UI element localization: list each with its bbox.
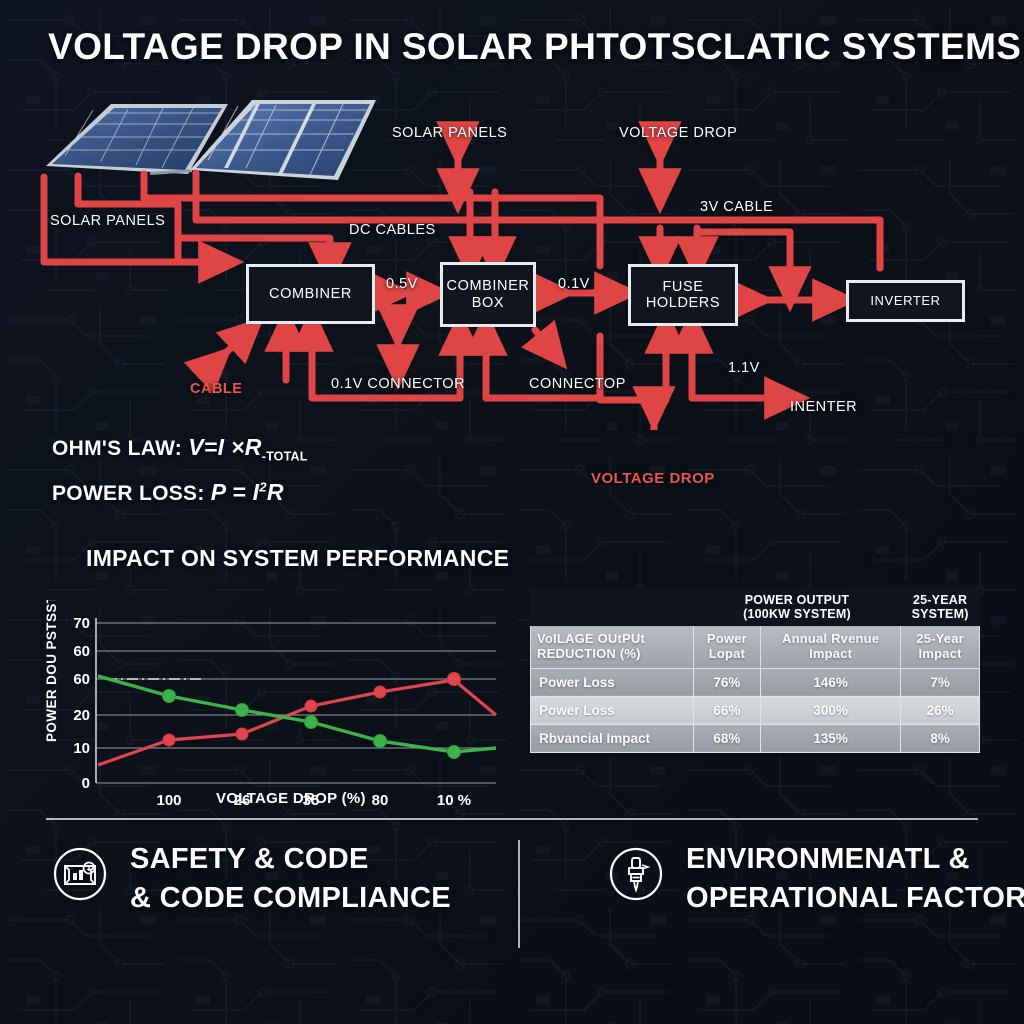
label-dc-cables: DC CABLES xyxy=(349,222,436,238)
node-combiner-box[interactable]: COMBINERBOX xyxy=(440,262,536,327)
chart-ytick-60b: 60 xyxy=(73,671,90,688)
row-25-year: 8% xyxy=(901,724,980,752)
ohms-law-times: × xyxy=(231,434,245,460)
row-25-year: 7% xyxy=(901,668,980,696)
table-top-25-year: 25-YEARSYSTEM) xyxy=(901,589,980,626)
footer-vertical-divider xyxy=(518,840,520,948)
footer-item-safety-code: SAFETY & CODE& CODE COMPLIANCE xyxy=(52,840,507,917)
power-loss-exponent: 2 xyxy=(259,479,267,494)
wiring-arrows xyxy=(0,80,1024,430)
row-label: Power Loss xyxy=(531,696,694,724)
table-row: Rbvancial Impact 68% 135% 8% xyxy=(531,724,980,752)
row-power-lopat: 68% xyxy=(693,724,760,752)
ohms-law-eq: = xyxy=(204,434,218,460)
chart-ytick-10: 10 xyxy=(73,740,90,757)
row-power-lopat: 76% xyxy=(693,668,760,696)
chart-y-axis-label: POWER DOU PSTSST(:) xyxy=(44,600,59,742)
col-25-year-impact: 25-YearImpact xyxy=(901,626,980,669)
node-combiner[interactable]: COMBINER xyxy=(246,264,375,324)
table-header-row: VoILAGE OUtPUtREDUCTION (%) PowerLopat A… xyxy=(531,626,980,669)
page-title: VOLTAGE DROP IN SOLAR PHTOTSCLATIC SYSTE… xyxy=(48,26,978,68)
table-top-header-row: POWER OUTPUT(100KW SYSTEM) 25-YEARSYSTEM… xyxy=(531,589,980,626)
node-combiner-box-label: COMBINERBOX xyxy=(447,278,530,310)
chart-x-axis-label: VOLTAGE DROP (%) xyxy=(216,790,366,807)
col-power-lopat: PowerLopat xyxy=(693,626,760,669)
power-loss-expr: P = I xyxy=(211,479,260,505)
label-drop-1-1v: 1.1V xyxy=(728,360,760,376)
node-inverter-label: INVERTER xyxy=(870,294,940,309)
chart-title: IMPACT ON SYSTEM PERFORMANCE xyxy=(86,545,509,572)
formula-ohms-law: OHM'S LAW: V=I ×R-TOTAL xyxy=(52,434,308,464)
row-label: Rbvancial Impact xyxy=(531,724,694,752)
impact-table: POWER OUTPUT(100KW SYSTEM) 25-YEARSYSTEM… xyxy=(530,588,980,753)
formula-list: OHM'S LAW: V=I ×R-TOTAL POWER LOSS: P = … xyxy=(52,434,308,521)
chart-xtick-4: 10 % xyxy=(437,792,471,805)
row-annual-revenue: 300% xyxy=(761,696,901,724)
footer-divider xyxy=(46,818,978,820)
label-drop-0-5v: 0.5V xyxy=(386,276,418,292)
node-inverter[interactable]: INVERTER xyxy=(846,280,965,322)
table-top-blank xyxy=(531,589,694,626)
ohms-law-i: I xyxy=(218,434,225,460)
label-cable: CABLE xyxy=(190,381,242,397)
row-annual-revenue: 146% xyxy=(761,668,901,696)
label-inenter: INENTER xyxy=(790,399,857,415)
row-annual-revenue: 135% xyxy=(761,724,901,752)
chart-series-power-loss-points xyxy=(163,673,461,747)
chart-ytick-70: 70 xyxy=(73,615,90,632)
row-25-year: 26% xyxy=(901,696,980,724)
formula-power-loss: POWER LOSS: P = I2R xyxy=(52,479,308,506)
power-loss-tail: R xyxy=(267,479,284,505)
label-3v-cable: 3V CABLE xyxy=(700,199,773,215)
ohms-law-subscript: -TOTAL xyxy=(262,450,308,464)
label-drop-0-1v: 0.1V xyxy=(558,276,590,292)
system-diagram: COMBINER COMBINERBOX FUSEHOLDERS INVERTE… xyxy=(0,80,1024,430)
ohms-law-r: R xyxy=(245,434,262,460)
safety-sign-icon xyxy=(52,846,108,902)
node-fuse-holders[interactable]: FUSEHOLDERS xyxy=(628,264,738,326)
col-voltage-output-reduction: VoILAGE OUtPUtREDUCTION (%) xyxy=(531,626,694,669)
node-combiner-label: COMBINER xyxy=(269,286,352,302)
chart-xtick-3: 80 xyxy=(372,792,389,805)
footer-safety-text: SAFETY & CODE& CODE COMPLIANCE xyxy=(130,840,451,917)
row-label: Power Loss xyxy=(531,668,694,696)
footer-environmental-text: ENVIRONMENATL &OPERATIONAL FACTORS xyxy=(686,840,1024,917)
row-power-lopat: 66% xyxy=(693,696,760,724)
col-annual-revenue-impact: Annual RvenueImpact xyxy=(761,626,901,669)
table-top-power-output: POWER OUTPUT(100KW SYSTEM) xyxy=(693,589,900,626)
label-connectop: CONNECTOP xyxy=(529,376,626,392)
chart-ytick-0: 0 xyxy=(82,775,90,792)
ohms-law-v: V xyxy=(188,434,204,460)
table-row: Power Loss 66% 300% 26% xyxy=(531,696,980,724)
footer-item-environmental: ENVIRONMENATL &OPERATIONAL FACTORS xyxy=(608,840,1008,917)
chart-series-output xyxy=(98,676,496,752)
performance-chart: POWER DOU PSTSST(:) 70 60 60 20 10 xyxy=(30,600,530,805)
label-voltage-drop-bottom: VOLTAGE DROP xyxy=(591,470,715,487)
label-0-1v-connector: 0.1V CONNECTOR xyxy=(331,376,465,392)
power-loss-label: POWER LOSS: xyxy=(52,482,205,505)
chart-ytick-60a: 60 xyxy=(73,643,90,660)
chart-ytick-20: 20 xyxy=(73,707,90,724)
label-solar-panels-left: SOLAR PANELS xyxy=(50,213,165,229)
chart-xtick-0: 100 xyxy=(156,792,181,805)
spark-plug-icon xyxy=(608,846,664,902)
label-solar-panels-top: SOLAR PANELS xyxy=(392,125,507,141)
label-voltage-drop-top: VOLTAGE DROP xyxy=(619,125,737,141)
ohms-law-label: OHM'S LAW: xyxy=(52,437,182,460)
table-row: Power Loss 76% 146% 7% xyxy=(531,668,980,696)
node-fuse-holders-label: FUSEHOLDERS xyxy=(646,279,720,311)
